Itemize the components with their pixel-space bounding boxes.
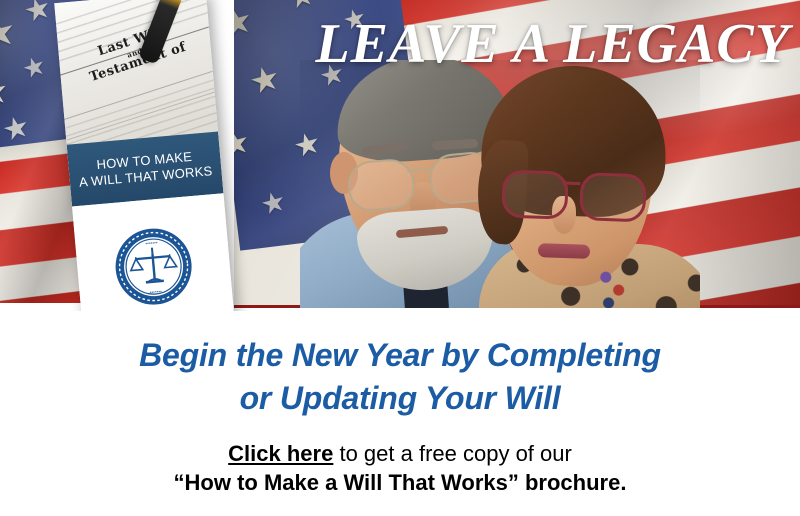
senior-couple-photo	[300, 60, 700, 308]
lens-left	[501, 169, 569, 219]
call-to-action: Click here to get a free copy of our “Ho…	[0, 440, 800, 497]
brochure-document-photo: Last Will and Testament of	[54, 0, 218, 145]
woman-necklace	[592, 268, 638, 308]
copy-block: Begin the New Year by Completing or Upda…	[0, 311, 800, 516]
cta-line2: “How to Make a Will That Works” brochure…	[0, 469, 800, 498]
glasses-bridge	[407, 168, 431, 172]
leave-a-legacy-banner[interactable]: ★ ★ ★ ★ ★ ★ ★ ★ ★ ★ ★ ★ ★ ★	[0, 0, 800, 516]
lens-right	[579, 172, 647, 222]
woman-lips	[538, 243, 590, 259]
woman-eyeglasses-icon	[501, 169, 653, 220]
svg-text:•••••••: •••••••	[149, 289, 162, 296]
subheading-line1: Begin the New Year by Completing	[0, 334, 800, 377]
cta-line1-rest: to get a free copy of our	[333, 441, 571, 466]
glasses-bridge	[562, 181, 580, 185]
cta-line1: Click here to get a free copy of our	[0, 440, 800, 469]
subheading-line2: or Updating Your Will	[0, 377, 800, 420]
page-title: LEAVE A LEGACY	[300, 16, 790, 72]
brochure-mockup[interactable]: Last Will and Testament of HOW TO MAKE A…	[54, 0, 233, 311]
subheading: Begin the New Year by Completing or Upda…	[0, 334, 800, 419]
scales-of-justice-seal-icon: ••••••• •••••••	[111, 224, 196, 309]
click-here-link[interactable]: Click here	[228, 441, 333, 466]
brochure-bottom-panel: ••••••• •••••••	[72, 193, 234, 311]
brochure-title-text: HOW TO MAKE A WILL THAT WORKS	[77, 147, 213, 191]
lens-left	[346, 157, 416, 213]
hero-image-area: ★ ★ ★ ★ ★ ★ ★ ★ ★ ★ ★ ★ ★ ★	[0, 0, 800, 311]
svg-text:•••••••: •••••••	[145, 240, 158, 247]
